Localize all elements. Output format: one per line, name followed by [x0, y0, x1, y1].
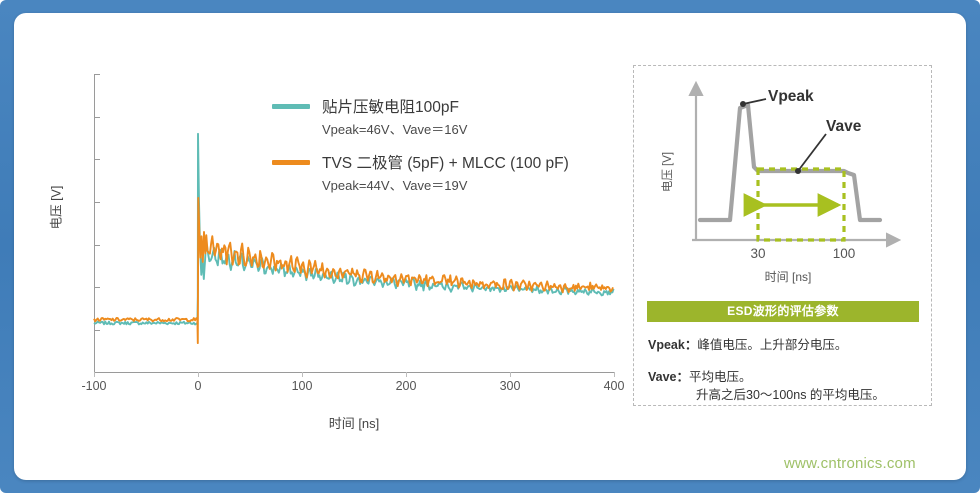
content-card: 60 50 40 30 20 10 0 -10 -100 0 100 200 3… [14, 13, 966, 480]
vpeak-callout-label: Vpeak [768, 88, 814, 106]
legend-swatch-varistor [272, 104, 310, 109]
esd-parameters-panel: 电压 [V] 时间 [ns] 30 100 Vpeak Vave ESD波形的评… [633, 65, 932, 406]
parameters-banner: ESD波形的评估参数 [647, 301, 919, 322]
legend-title-varistor: 贴片压敏电阻100pF [322, 95, 459, 117]
waveform-plot [14, 13, 634, 480]
mini-x-tick-30: 30 [733, 246, 783, 261]
legend-entry-tvs: TVS 二极管 (5pF) + MLCC (100 pF) Vpeak=44V、… [272, 151, 612, 194]
mini-x-axis-title: 时间 [ns] [688, 268, 888, 285]
outer-frame: 60 50 40 30 20 10 0 -10 -100 0 100 200 3… [0, 0, 980, 493]
legend-title-tvs: TVS 二极管 (5pF) + MLCC (100 pF) [322, 151, 569, 173]
legend-entry-varistor: 贴片压敏电阻100pF Vpeak=46V、Vave＝16V [272, 95, 612, 138]
legend-swatch-tvs [272, 160, 310, 165]
site-watermark: www.cntronics.com [784, 455, 916, 472]
mini-x-tick-100: 100 [819, 246, 869, 261]
definition-vpeak: Vpeak：峰值电压。上升部分电压。 [648, 334, 847, 353]
legend-subtitle-varistor: Vpeak=46V、Vave＝16V [322, 119, 612, 138]
chart-legend: 贴片压敏电阻100pF Vpeak=46V、Vave＝16V TVS 二极管 (… [272, 95, 612, 207]
definition-vave-continued: 升高之后30～100ns 的平均电压。 [696, 384, 885, 403]
legend-subtitle-tvs: Vpeak=44V、Vave＝19V [322, 175, 612, 194]
esd-waveform-diagram: 电压 [V] 时间 [ns] 30 100 Vpeak Vave [648, 72, 920, 287]
definition-vave-text: 平均电压。 [689, 370, 752, 384]
definition-vave-term: Vave： [648, 370, 689, 384]
mini-y-axis-title: 电压 [V] [659, 137, 675, 207]
main-chart: 60 50 40 30 20 10 0 -10 -100 0 100 200 3… [14, 13, 634, 480]
vave-callout-label: Vave [826, 118, 861, 136]
trace-tvs-mlcc [94, 198, 613, 343]
definition-vpeak-text: 峰值电压。上升部分电压。 [697, 338, 847, 352]
definition-vave: Vave：平均电压。 [648, 366, 752, 385]
definition-vpeak-term: Vpeak： [648, 338, 697, 352]
